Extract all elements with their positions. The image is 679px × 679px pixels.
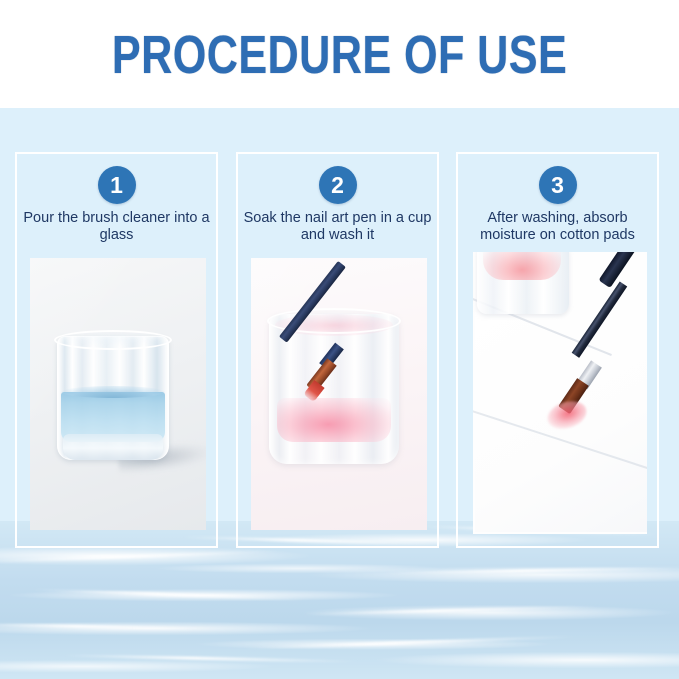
pink-cleaner-liquid [277, 398, 391, 442]
step-card-3: 3 After washing, absorb moisture on cott… [456, 152, 659, 548]
glass-rim [54, 330, 172, 350]
step-caption-1: Pour the brush cleaner into a glass [21, 210, 212, 244]
step-card-2: 2 Soak the nail art pen in a cup and was… [236, 152, 439, 548]
steps-container: 1 Pour the brush cleaner into a glass 2 … [0, 0, 679, 679]
step-number-badge-2: 2 [319, 166, 357, 204]
step-caption-3: After washing, absorb moisture on cotton… [462, 210, 653, 244]
step-card-1: 1 Pour the brush cleaner into a glass [15, 152, 218, 548]
step-photo-2 [251, 258, 427, 530]
liquid-surface [61, 386, 165, 398]
step-caption-2: Soak the nail art pen in a cup and wash … [242, 210, 433, 244]
glass-base [63, 434, 163, 460]
step-photo-3 [473, 252, 647, 534]
step-number-badge-1: 1 [98, 166, 136, 204]
pink-residue-in-dish [483, 252, 561, 280]
procedure-of-use-infographic: PROCEDURE OF USE 1 Pour the brush cleane… [0, 0, 679, 679]
step-photo-1 [30, 258, 206, 530]
step-number-badge-3: 3 [539, 166, 577, 204]
